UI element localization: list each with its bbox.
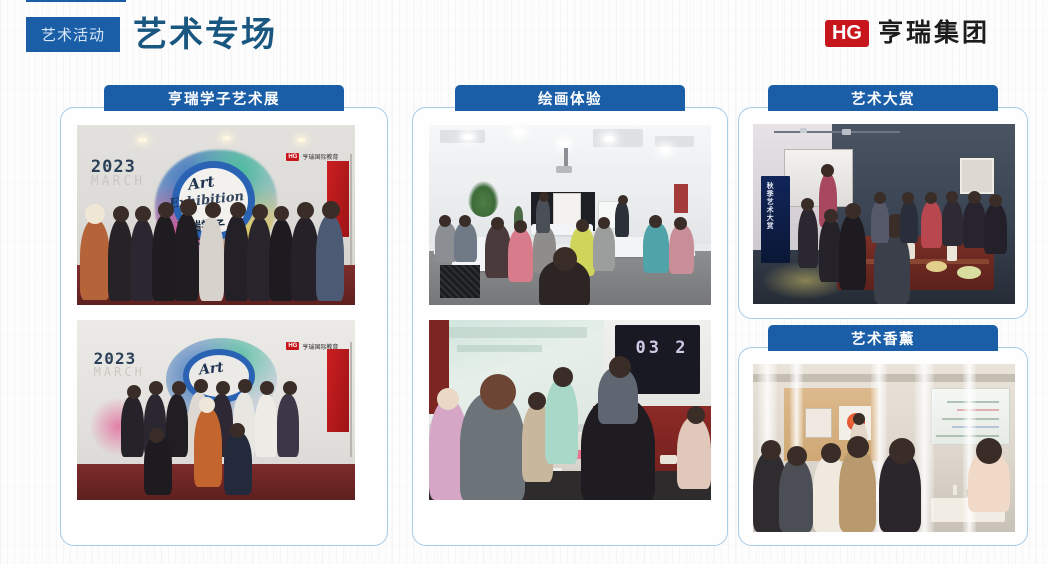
photo-art-appreciation-talk: 秋季艺术大赏 xyxy=(753,124,1015,304)
backdrop-hg-mark: HG xyxy=(286,153,299,161)
brand-mark-icon: HG xyxy=(825,20,869,47)
card-art-appreciation: 秋季艺术大赏 xyxy=(738,107,1028,319)
section-category-badge: 艺术活动 xyxy=(26,17,120,52)
backdrop-month: MARCH xyxy=(91,174,145,189)
photo-painting-lecture-classroom xyxy=(429,125,711,305)
backdrop-hg-logo: HG 亨瑞国际教育 xyxy=(286,152,338,161)
photo-exhibition-group-photo-ribbon: Art Exhibition 亨瑞学子 艺术展 2023 MARCH HG 亨瑞… xyxy=(77,125,355,305)
card-student-art-exhibition: Art Exhibition 亨瑞学子 艺术展 2023 MARCH HG 亨瑞… xyxy=(60,107,388,546)
page-title: 艺术专场 xyxy=(133,13,277,57)
photo-painting-handcraft-table: 03 2 xyxy=(429,320,711,500)
backdrop-art-word: Art xyxy=(187,172,216,194)
card-title-painting-experience: 绘画体验 xyxy=(455,85,685,111)
backdrop-hg-mark-2: HG xyxy=(286,342,299,350)
backdrop-month-2: MARCH xyxy=(94,365,145,379)
backdrop-hg-name: 亨瑞国际教育 xyxy=(302,152,338,161)
appreciation-banner-text: 秋季艺术大赏 xyxy=(767,183,775,231)
gallery-board: 亨瑞学子艺术展 Art Exhibition 亨瑞学子 艺术展 2023 MAR… xyxy=(0,0,1048,564)
photo-exhibition-group-photo-wide: Art 2023 MARCH HG 亨瑞国际教育 xyxy=(77,320,355,500)
page-header: 艺术活动 艺术专场 HG 亨瑞集团 xyxy=(0,0,1048,72)
brand-name: 亨瑞集团 xyxy=(878,19,990,47)
card-title-student-art-exhibition: 亨瑞学子艺术展 xyxy=(104,85,344,111)
card-painting-experience: 03 2 xyxy=(412,107,728,546)
photo-aroma-workshop xyxy=(753,364,1015,532)
craft-screen-number: 03 2 xyxy=(636,338,689,358)
brand-logo: HG 亨瑞集团 xyxy=(825,19,990,47)
card-title-art-appreciation: 艺术大赏 xyxy=(768,85,998,111)
card-title-art-aroma: 艺术香薰 xyxy=(768,325,998,351)
card-art-aroma xyxy=(738,347,1028,546)
